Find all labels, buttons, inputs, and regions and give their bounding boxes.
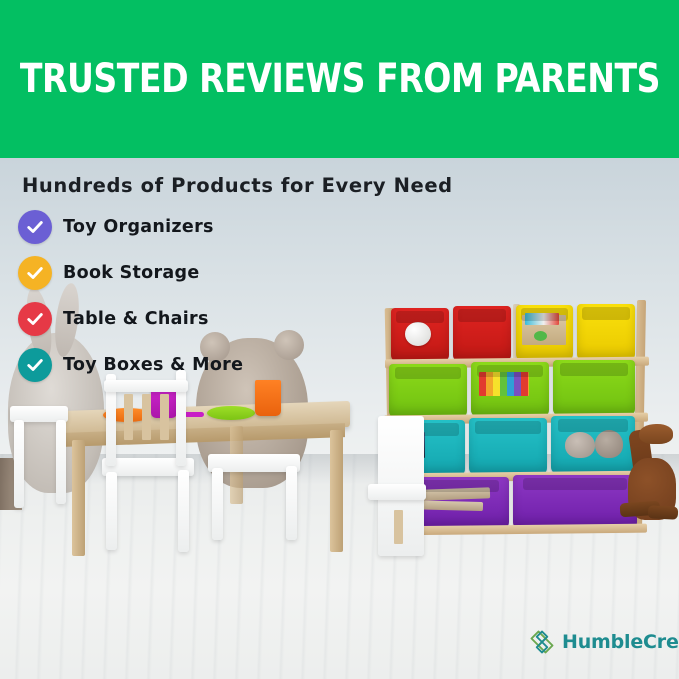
bin-red-1 (391, 308, 449, 362)
banner-title: TRUSTED REVIEWS FROM PARENTS (19, 59, 659, 99)
feature-checklist: Hundreds of Products for Every Need Toy … (0, 158, 360, 388)
checklist-item-toy-organizers[interactable]: Toy Organizers (18, 210, 214, 244)
giraffe-head (639, 424, 673, 444)
checklist-item-toy-boxes[interactable]: Toy Boxes & More (18, 348, 243, 382)
interlocking-squares-icon (528, 628, 556, 656)
checklist-item-book-storage[interactable]: Book Storage (18, 256, 200, 290)
baseball-toy (405, 322, 431, 346)
chair-back-leg-1 (212, 468, 223, 540)
checklist-item-label: Table & Chairs (63, 309, 209, 329)
chair-front-slat-3 (160, 394, 169, 440)
bin-yellow-2 (577, 304, 635, 361)
bin-yellow-1 (516, 305, 573, 361)
chair-back-leg-2 (286, 466, 297, 540)
checklist-heading: Hundreds of Products for Every Need (22, 174, 453, 197)
chair-left-leg-1 (14, 420, 24, 508)
chair-right-seat (368, 484, 426, 500)
product-infographic: TRUSTED REVIEWS FROM PARENTS (0, 0, 679, 679)
dinosaur-graphic (534, 331, 547, 341)
bin-teal-3 (551, 416, 635, 474)
book-toy (522, 315, 566, 345)
table-leg-front-right (330, 430, 343, 552)
giraffe-leg-back (648, 505, 679, 520)
bin-green-1 (389, 364, 467, 418)
plate-green (207, 406, 255, 420)
bin-green-2 (471, 362, 549, 417)
check-icon (18, 256, 52, 290)
checklist-item-label: Book Storage (63, 263, 200, 283)
chair-front-slat-1 (124, 394, 133, 440)
chair-right-slat (394, 510, 403, 544)
chair-front-leg-2 (178, 470, 189, 552)
bin-purple-2 (513, 475, 637, 529)
checklist-item-label: Toy Boxes & More (63, 355, 243, 375)
checklist-item-label: Toy Organizers (63, 217, 214, 237)
book-toy-cover (525, 313, 559, 325)
chair-left-leg-2 (56, 420, 66, 504)
header-banner: TRUSTED REVIEWS FROM PARENTS (0, 0, 679, 158)
chair-front-slat-2 (142, 394, 151, 440)
chair-front-leg-1 (106, 472, 117, 550)
bin-red-2 (453, 306, 511, 362)
check-icon (18, 210, 52, 244)
brand-logo[interactable]: HumbleCrew (528, 628, 679, 656)
plush-elephant-toy (565, 432, 595, 458)
bin-teal-2 (469, 418, 547, 475)
xylophone-toy (479, 372, 529, 396)
check-icon (18, 302, 52, 336)
checklist-item-table-chairs[interactable]: Table & Chairs (18, 302, 209, 336)
table-leg-front-left (72, 440, 85, 556)
check-icon (18, 348, 52, 382)
plush-monkey-toy (595, 430, 623, 458)
bin-green-3 (553, 360, 635, 416)
brand-logo-text: HumbleCrew (562, 631, 679, 653)
